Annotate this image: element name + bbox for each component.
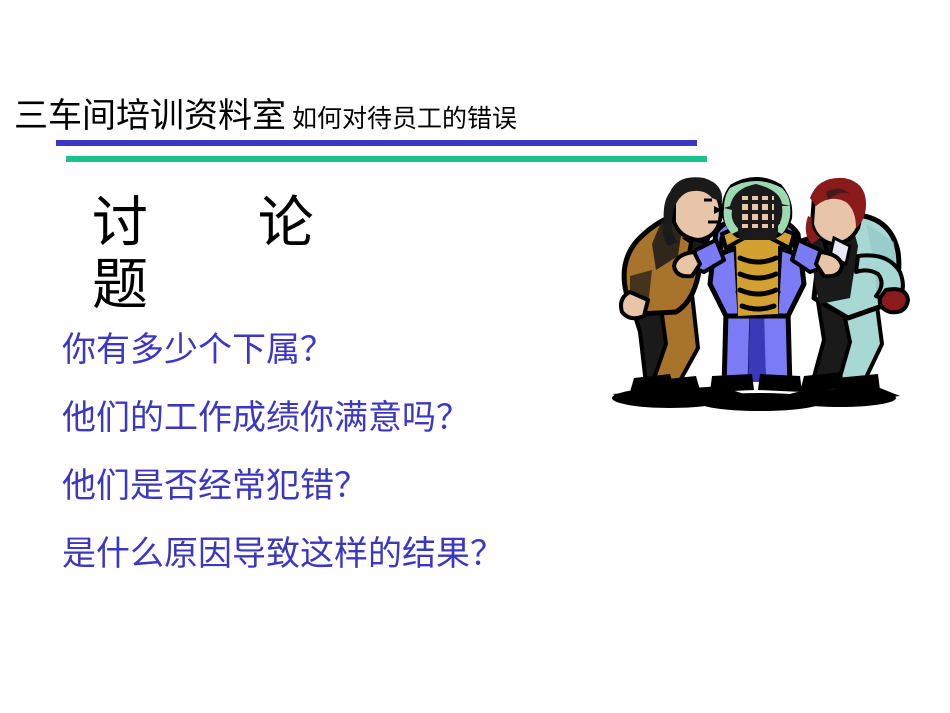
title-divider-blue xyxy=(56,140,697,146)
list-item: 你有多少个下属？ xyxy=(62,316,682,384)
title-divider-green xyxy=(66,156,707,162)
slide-title-main: 三车间培训资料室 xyxy=(14,96,286,136)
presentation-slide: 三车间培训资料室如何对待员工的错误 讨 论 题 你有多少个下属？ 他们的工作成绩… xyxy=(0,0,950,713)
discussion-heading: 讨 论 题 xyxy=(92,193,512,317)
slide-title-subtitle: 如何对待员工的错误 xyxy=(286,104,517,133)
list-item: 他们是否经常犯错？ xyxy=(62,452,682,520)
list-item: 他们的工作成绩你满意吗？ xyxy=(62,384,682,452)
question-list: 你有多少个下属？ 他们的工作成绩你满意吗？ 他们是否经常犯错？ 是什么原因导致这… xyxy=(62,316,682,588)
slide-title-block: 三车间培训资料室如何对待员工的错误 xyxy=(14,96,734,142)
clipart-svg xyxy=(600,172,912,412)
three-men-referee-illustration xyxy=(600,172,912,412)
list-item: 是什么原因导致这样的结果？ xyxy=(62,520,682,588)
